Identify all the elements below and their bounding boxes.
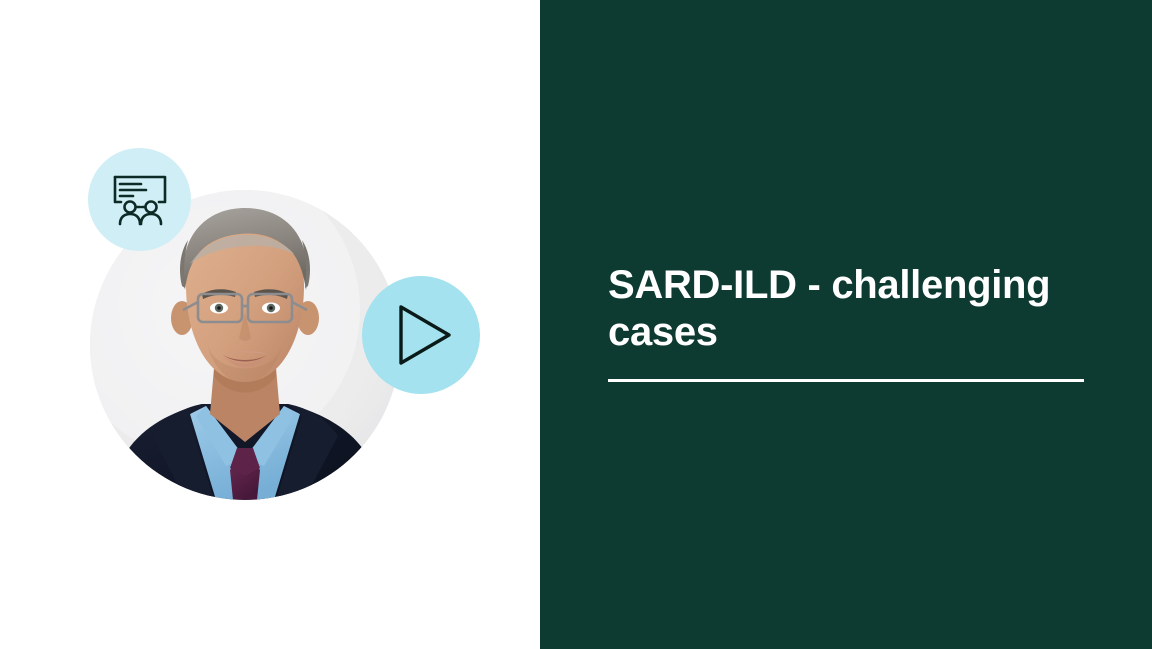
- play-badge[interactable]: [362, 276, 480, 394]
- left-panel: [0, 0, 540, 649]
- right-panel: SARD-ILD - challenging cases: [540, 0, 1152, 649]
- title-block: SARD-ILD - challenging cases: [608, 262, 1086, 356]
- page-title: SARD-ILD - challenging cases: [608, 262, 1086, 356]
- title-divider: [608, 379, 1084, 382]
- webinar-badge: [88, 148, 191, 251]
- play-triangle-icon[interactable]: [387, 303, 455, 367]
- slide-root: SARD-ILD - challenging cases: [0, 0, 1152, 649]
- presentation-audience-icon: [111, 174, 169, 226]
